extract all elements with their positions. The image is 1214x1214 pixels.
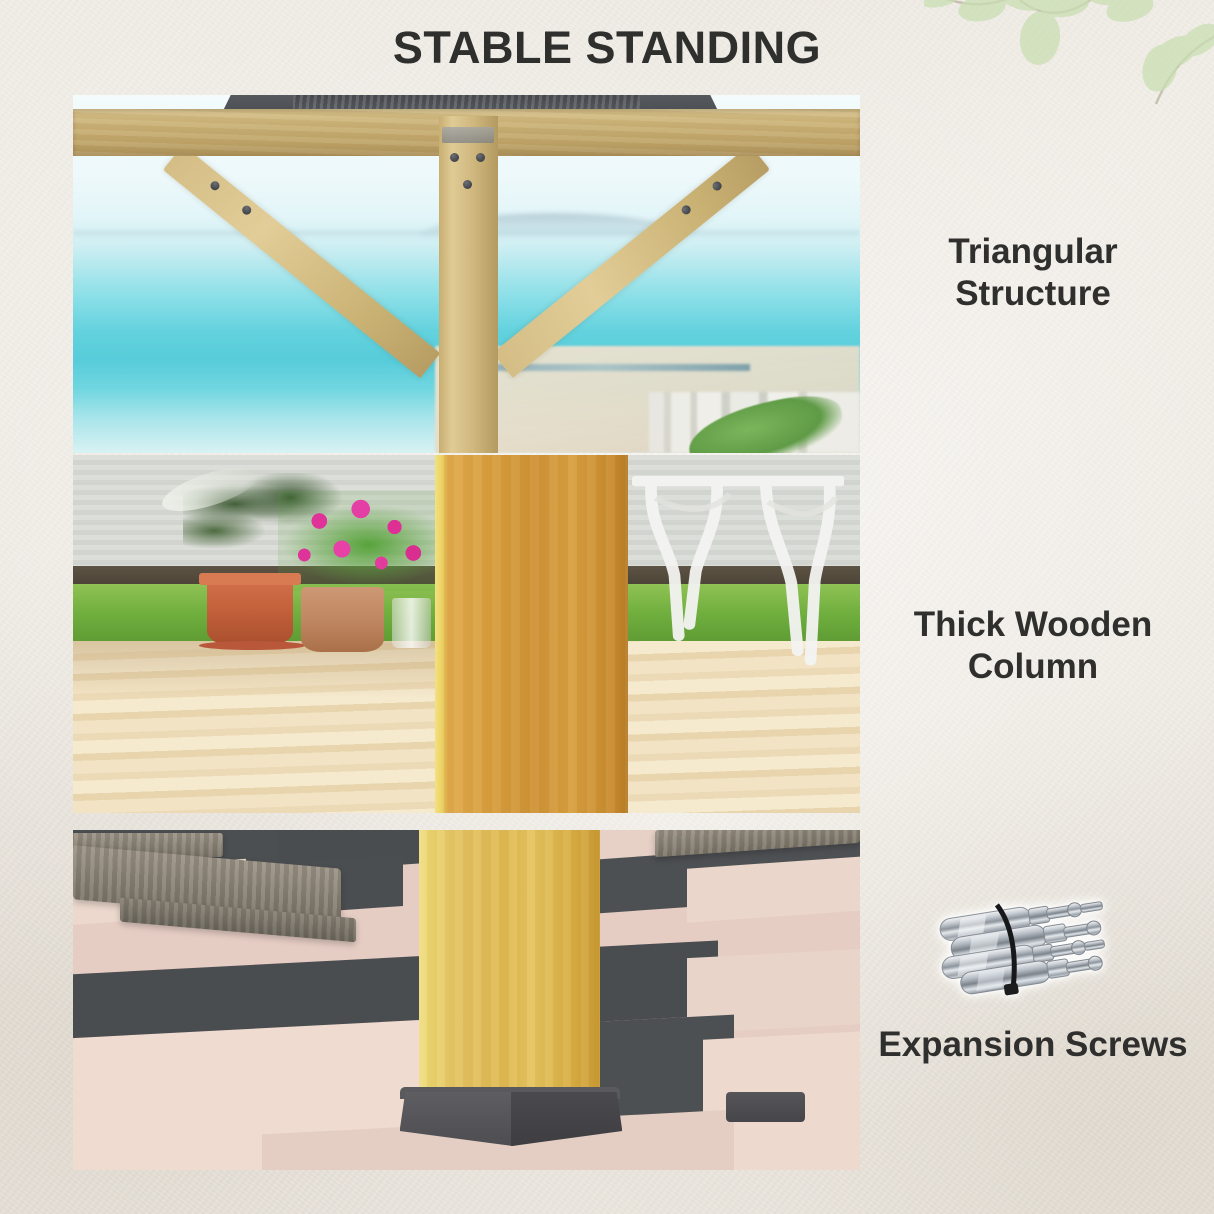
expansion-screws-icon [930, 893, 1120, 1003]
glass-jar [392, 598, 431, 648]
brace-bolt-icon [711, 180, 724, 193]
post-bolt-icon [450, 153, 459, 162]
thick-wooden-column-photo [73, 455, 860, 813]
support-post [439, 116, 498, 453]
thick-wooden-column [435, 455, 628, 813]
post-bolt-icon [476, 153, 485, 162]
white-bistro-chairs-icon [632, 466, 844, 674]
terracotta-pot-small [301, 587, 384, 651]
wooden-column [419, 830, 600, 1099]
feature-caption-expansion-screws: Expansion Screws [868, 1024, 1198, 1066]
feature-image-thick-wooden-column [73, 455, 860, 813]
brace-bolt-icon [209, 180, 222, 193]
metal-bracket-plate [442, 127, 494, 144]
feature-image-triangular-structure [73, 95, 860, 453]
brace-bolt-icon [680, 204, 693, 217]
feature-caption-thick-wooden-column: Thick Wooden Column [868, 604, 1198, 688]
feature-image-column-base [73, 830, 860, 1170]
pergola-triangular-brace-photo [73, 95, 860, 453]
post-bolt-icon [463, 180, 472, 189]
feature-caption-triangular-structure: Triangular Structure [868, 231, 1198, 315]
terracotta-pot-rim [199, 573, 301, 585]
column-base-on-tiled-patio-photo [73, 830, 860, 1170]
terracotta-pot-large [207, 577, 294, 645]
secondary-column-foot [726, 1092, 805, 1123]
page-title: STABLE STANDING [0, 22, 1214, 74]
brace-bolt-icon [241, 204, 254, 217]
